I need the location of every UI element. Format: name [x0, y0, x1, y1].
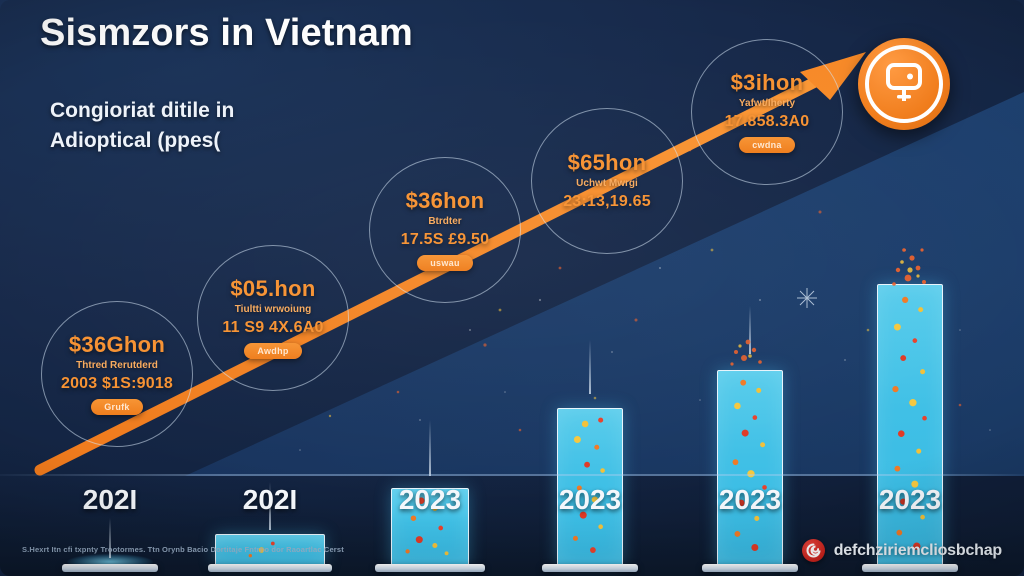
- bar-6-confetti: [878, 285, 942, 565]
- subtitle-line-1: Congioriat ditile in: [50, 96, 380, 126]
- slide-frame: $36Ghon Thtred Rerutderd 2003 $1S:9018 G…: [0, 0, 1024, 576]
- infographic-slide: $36Ghon Thtred Rerutderd 2003 $1S:9018 G…: [0, 0, 1024, 576]
- axis-baseline: [0, 474, 1024, 476]
- bar-3-base: [375, 564, 485, 572]
- callout-5-pill[interactable]: cwdna: [739, 137, 795, 153]
- x-axis-label-5: 2023: [830, 484, 990, 516]
- callout-4-detail: 23:13,19.65: [512, 193, 702, 211]
- callout-1-detail: 2003 $1S:9018: [22, 375, 212, 393]
- callout-4[interactable]: $65hon Uchwt Mwrgi 23:13,19.65: [512, 150, 702, 211]
- callout-3-label: Btrdter: [350, 216, 540, 227]
- page-title: Sismzors in Vietnam: [40, 12, 413, 55]
- bar-4-stem: [589, 340, 591, 394]
- callout-2-detail: 11 S9 4X.6A0: [178, 319, 368, 337]
- callout-2-value: $05.hon: [178, 276, 368, 302]
- bar-2-base: [208, 564, 332, 572]
- subtitle-line-2: Adioptical (ppes(: [50, 126, 380, 156]
- bar-3-stem: [429, 420, 431, 476]
- brand-lockup[interactable]: defchziriemcliosbchap: [802, 539, 1002, 562]
- footnote: S.Hexrt Itn cfi txpnty Trootormes. Ttn O…: [22, 545, 672, 554]
- bar-5-confetti: [718, 371, 782, 565]
- callout-4-label: Uchwt Mwrgi: [512, 178, 702, 189]
- callout-5-label: Yafwt/Iherty: [672, 98, 862, 109]
- callout-1-label: Thtred Rerutderd: [22, 360, 212, 371]
- callout-5[interactable]: $3ihon Yafwt/Iherty 17.858.3A0 cwdna: [672, 70, 862, 153]
- bar-5-base: [702, 564, 798, 572]
- callout-2[interactable]: $05.hon Tiultti wrwoiung 11 S9 4X.6A0 Aw…: [178, 276, 368, 359]
- callout-1-pill[interactable]: Grufk: [91, 399, 143, 415]
- bar-5-stem: [749, 306, 751, 354]
- callout-2-label: Tiultti wrwoiung: [178, 304, 368, 315]
- callout-5-ring: [691, 39, 843, 185]
- bar-5-column: [717, 370, 783, 566]
- brand-name: defchziriemcliosbchap: [834, 542, 1002, 560]
- callout-5-value: $3ihon: [672, 70, 862, 96]
- wallet-badge[interactable]: [858, 38, 950, 130]
- badge-ring: [865, 45, 943, 123]
- bar-4[interactable]: [510, 286, 670, 576]
- callout-3-ring: [369, 157, 521, 303]
- x-axis-label-3: 2023: [510, 484, 670, 516]
- bar-4-base: [542, 564, 638, 572]
- callout-5-detail: 17.858.3A0: [672, 113, 862, 131]
- callout-2-ring: [197, 245, 349, 391]
- callout-2-pill[interactable]: Awdhp: [244, 343, 301, 359]
- callout-3-pill[interactable]: uswau: [417, 255, 473, 271]
- callout-1-ring: [41, 301, 193, 447]
- swirl-logo-icon: [802, 539, 825, 562]
- x-axis-label-2: 2023: [350, 484, 510, 516]
- bar-5[interactable]: [670, 206, 830, 576]
- callout-3-detail: 17.5S £9.50: [350, 231, 540, 249]
- page-subtitle: Congioriat ditile in Adioptical (ppes(: [50, 96, 380, 156]
- bar-6-column: [877, 284, 943, 566]
- bar-6-base: [862, 564, 958, 572]
- x-axis-label-4: 2023: [670, 484, 830, 516]
- bar-1-base: [62, 564, 158, 572]
- callout-4-value: $65hon: [512, 150, 702, 176]
- x-axis-label-1: 202I: [190, 484, 350, 516]
- x-axis-label-0: 202I: [30, 484, 190, 516]
